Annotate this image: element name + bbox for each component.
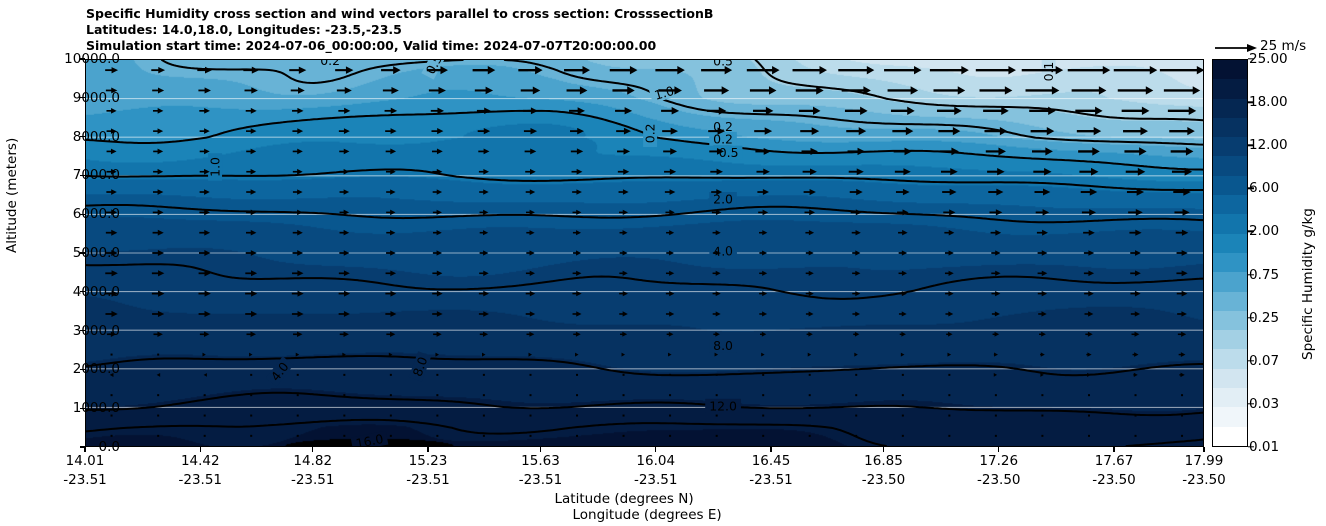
wind-vector [896,189,910,195]
wind-vector [524,128,537,134]
wind-vector [803,168,817,175]
colorbar-band [1213,79,1247,98]
wind-vector [902,374,904,376]
wind-vector [1041,415,1043,417]
wind-vector [901,353,905,357]
wind-vector [1086,352,1091,356]
wind-vector [713,271,721,276]
wind-vector [899,250,907,255]
wind-vector [668,353,671,357]
wind-vector [940,148,959,156]
wind-vector [806,271,814,276]
wind-vector [386,230,395,235]
wind-vector [390,394,392,396]
wind-vector [995,394,997,396]
colorbar-tick-mark [1248,145,1254,146]
wind-vector [612,86,634,94]
colorbar-tick-mark [1248,58,1254,59]
wind-vector [204,373,207,377]
wind-vector [483,394,485,396]
wind-vector [572,189,582,194]
wind-vector [664,169,676,175]
wind-vector [892,127,913,135]
wind-vector [759,311,767,316]
wind-vector [151,67,165,73]
wind-vector [1038,311,1046,316]
wind-vector [479,169,489,175]
wind-vector [1035,189,1051,196]
wind-vector [976,66,1016,74]
x-tick-label-latitude: 15.63 [519,452,563,471]
wind-vector [750,86,777,94]
wind-vector [199,230,210,236]
wind-vector [1038,271,1048,276]
wind-vector [200,128,210,134]
contour-label: 0.2 [317,60,344,68]
x-tick-label-latitude: 16.85 [862,452,906,471]
wind-vector [526,250,534,255]
wind-vector [622,353,625,357]
wind-vector [986,147,1006,155]
y-tick-mark [80,291,85,292]
wind-vector [107,149,117,155]
wind-vector [619,271,627,276]
y-tick-label: 10000.0 [64,51,120,67]
colorbar-band [1213,349,1247,368]
colorbar-band [1213,99,1247,118]
wind-vector [153,128,163,134]
contour-label: 0.1 [1041,60,1056,85]
wind-vector [994,373,997,377]
wind-vector [293,169,303,175]
wind-vector [756,169,769,175]
wind-vector [1181,415,1183,417]
wind-vector [1084,271,1094,277]
wind-vector [1041,394,1043,396]
wind-vector [715,353,718,357]
wind-vector [246,250,257,256]
wind-vector [854,353,857,357]
wind-vector [1130,270,1141,276]
wind-vector [390,435,392,437]
wind-vector [754,127,772,134]
svg-text:0.5: 0.5 [719,145,739,160]
y-axis-label: Altitude (meters) [4,138,20,253]
y-tick-mark [80,408,85,409]
wind-vector [993,332,1000,337]
x-tick-label-latitude: 14.42 [179,452,223,471]
wind-vector [1085,332,1092,337]
wind-vector [669,374,671,376]
wind-vector [1135,394,1137,396]
x-tick-label-longitude: -23.50 [977,471,1021,490]
wind-vector [480,230,488,235]
wind-vector [1040,352,1045,356]
wind-vector [523,107,538,114]
colorbar-band [1213,137,1247,156]
wind-vector [616,128,631,135]
x-tick-label-group: 17.26-23.50 [977,452,1021,490]
svg-text:0.2: 0.2 [320,60,340,68]
wind-vector [246,149,256,155]
wind-vector [666,311,674,316]
wind-vector [1169,127,1195,135]
wind-vector [339,270,350,276]
wind-vector [713,332,719,337]
wind-vector [343,435,345,437]
wind-vector [247,331,256,336]
wind-vector [793,66,827,74]
wind-vector [1160,66,1203,74]
wind-vector [808,353,811,357]
wind-vector [762,374,764,376]
wind-vector [991,250,1000,255]
wind-vector [475,87,493,95]
wind-vector [106,230,117,236]
wind-vector [663,148,677,155]
wind-vector [1068,66,1111,74]
x-tick-label-group: 14.82-23.51 [291,452,335,490]
wind-vector [106,108,116,114]
wind-vector [246,128,256,134]
wind-vector [296,353,299,357]
wind-vector [429,87,446,94]
wind-vector [980,86,1013,94]
contour-label: 8.0 [710,338,737,353]
wind-vector [576,435,578,437]
wind-vector [933,86,965,94]
cross-section-plot: 0.20.50.51.01.00.10.20.20.20.52.04.04.08… [85,59,1204,447]
wind-vector [1131,311,1140,316]
wind-vector [480,332,488,337]
colorbar-band [1213,118,1247,137]
wind-vector [855,435,857,437]
wind-vector-key: 25 m/s [1213,38,1323,58]
wind-vector [293,332,302,337]
wind-vector [894,148,912,156]
wind-vector [576,394,578,396]
wind-vector [432,149,443,155]
wind-vector [948,435,950,437]
wind-vector [343,374,345,376]
contour-label: 0.5 [710,60,737,68]
wind-vector [1124,147,1146,155]
wind-vector [576,415,578,417]
wind-vector [483,374,485,376]
wind-vector [946,332,952,337]
x-tick-label-longitude: -23.50 [1182,471,1226,490]
wind-vector [243,67,259,74]
wind-vector [200,189,210,195]
wind-vector [1084,250,1094,256]
colorbar-tick-label: 18.00 [1249,94,1288,110]
wind-vector [848,148,865,155]
wind-vector [716,374,718,376]
wind-vector [473,66,496,74]
wind-vector [530,394,532,396]
colorbar-band [1213,292,1247,311]
x-tick-label-longitude: -23.51 [291,471,335,490]
x-tick-label-group: 16.85-23.50 [862,452,906,490]
wind-vector [899,271,907,276]
chart-title: Specific Humidity cross section and wind… [86,6,713,54]
wind-vector [1081,188,1098,195]
wind-vector [529,353,532,357]
wind-vector [623,394,625,396]
wind-vector [666,251,674,256]
wind-vector [992,311,1000,316]
wind-vector [530,415,532,417]
wind-vector [948,374,950,376]
wind-vector [111,354,113,356]
wind-vector [153,149,163,155]
wind-vector [704,86,729,94]
wind-vector [667,332,674,337]
x-tick-label-group: 15.63-23.51 [519,452,563,490]
wind-vector [665,189,675,195]
svg-text:0.5: 0.5 [713,60,733,68]
wind-vector [339,311,350,317]
wind-vector [479,311,489,317]
wind-vector [1122,107,1150,115]
wind-vector [386,271,396,277]
colorbar-band [1213,234,1247,253]
wind-vector [757,189,769,195]
wind-vector [433,332,442,337]
wind-vector [845,107,868,115]
wind-vector [662,128,678,135]
wind-vector [930,66,969,74]
wind-vector [339,128,350,134]
wind-vector [760,332,766,337]
wind-vector [1114,66,1158,74]
wind-vector [1038,250,1048,256]
wind-vector [900,332,906,337]
wind-vector [898,230,908,235]
wind-vector [571,148,583,154]
wind-vector [850,189,863,195]
wind-vector [152,311,164,317]
wind-vector [945,311,953,316]
svg-text:8.0: 8.0 [713,338,733,353]
wind-vector [297,374,299,376]
wind-vector [250,415,252,417]
wind-vector [1135,435,1137,437]
wind-vector [1178,332,1186,337]
wind-vector [105,270,118,276]
wind-vector [153,189,163,195]
x-tick-label-group: 16.45-23.51 [749,452,793,490]
wind-vector [390,415,392,417]
x-tick-label-latitude: 17.26 [977,452,1021,471]
wind-vector [620,230,628,235]
wind-vector [804,189,816,195]
wind-vector [386,149,396,155]
wind-vector [105,311,117,317]
wind-vector [573,230,581,235]
wind-vector [1039,332,1046,337]
wind-vector [902,435,904,437]
wind-vector [530,435,532,437]
wind-vector [250,374,252,376]
wind-vector [948,415,950,417]
wind-vector [809,394,811,396]
wind-vector [759,230,767,235]
svg-text:12.0: 12.0 [709,398,737,413]
wind-vector [339,169,349,175]
colorbar-band [1213,60,1247,79]
wind-vector [479,271,488,276]
wind-vector [1130,250,1141,256]
wind-vector [713,311,721,316]
colorbar-band [1213,311,1247,330]
wind-vector [620,251,628,256]
wind-vector [716,415,718,417]
wind-vector [433,250,442,255]
wind-vector [199,108,210,114]
wind-vector [250,394,252,396]
wind-vector [200,331,209,336]
wind-vector [204,435,206,437]
wind-vector [855,394,857,396]
colorbar-band [1213,369,1247,388]
wind-vector [669,435,671,437]
wind-vector [1077,127,1101,135]
wind-vector [669,415,671,417]
wind-vector [480,250,489,255]
wind-vector [246,230,256,236]
wind-vector [339,149,349,155]
x-tick-label-latitude: 15.23 [406,452,450,471]
wind-vector [800,127,819,135]
wind-vector [526,230,534,235]
wind-vector [618,169,629,175]
wind-vector [937,107,962,115]
wind-vector [846,127,866,135]
wind-vector [479,189,488,194]
wind-vector [567,86,588,94]
wind-vector [1088,435,1090,437]
wind-vector [521,87,541,95]
wind-vector [199,311,211,317]
title-line-1: Specific Humidity cross section and wind… [86,6,713,22]
x-tick-label-latitude: 17.99 [1182,452,1226,471]
wind-vector [293,149,303,155]
wind-vector [436,374,438,376]
wind-vector [1179,373,1184,377]
wind-vector [482,353,485,357]
wind-vector [661,107,679,114]
y-tick-mark [80,214,85,215]
wind-vector [292,311,304,317]
y-tick-mark [80,136,85,137]
wind-vector [564,66,590,74]
colorbar-tick-mark [1248,360,1254,361]
wind-vector [436,394,438,396]
wind-vector [338,108,350,114]
svg-text:1.0: 1.0 [653,83,676,103]
y-tick-mark [80,97,85,98]
colorbar-band [1213,253,1247,272]
wind-vector [390,374,392,376]
wind-vector [991,230,1002,236]
wind-vector [884,66,921,74]
contour-label: 1.0 [208,154,223,181]
contour-label: 2.0 [710,191,737,206]
wind-vector [291,87,305,94]
wind-vector [152,87,164,93]
x-tick-label-latitude: 16.04 [634,452,678,471]
wind-vector [483,435,485,437]
wind-vector [716,394,718,396]
wind-vector [246,169,256,175]
wind-vector [623,415,625,417]
colorbar-band [1213,407,1247,426]
svg-text:16.0: 16.0 [354,431,384,446]
wind-vector [152,270,164,276]
wind-vector [995,435,997,437]
wind-vector [433,230,442,235]
wind-vector [1181,394,1183,396]
colorbar-band [1213,272,1247,291]
wind-vector [619,189,629,195]
x-axis-label-longitude: Longitude (degrees E) [573,507,722,523]
wind-vector [902,415,904,417]
y-tick-mark [80,369,85,370]
wind-vector [246,108,257,114]
wind-vector [570,128,584,135]
wind-vector [153,169,163,175]
wind-vector [337,87,352,94]
x-tick-label-latitude: 14.01 [63,452,107,471]
y-tick-mark [80,58,85,59]
title-line-3: Simulation start time: 2024-07-06_00:00:… [86,38,713,54]
wind-vector [1031,127,1055,135]
arrow-right-icon [1213,38,1259,58]
wind-vector [947,353,951,357]
wind-vector [383,87,399,94]
x-tick-label-group: 17.67-23.50 [1092,452,1136,490]
colorbar-label: Specific Humidity g/kg [1300,208,1316,360]
wind-vector [1176,230,1189,236]
wind-vector [762,415,764,417]
wind-vector [710,169,723,175]
wind-vector [948,394,950,396]
wind-vector [293,250,303,256]
wind-vector [250,435,252,437]
wind-vector [573,271,582,276]
colorbar-tick-label: 12.00 [1249,137,1288,153]
wind-vector [1179,352,1186,357]
wind-vector [707,107,726,115]
wind-vector [1079,168,1098,176]
wind-vector [1032,147,1053,155]
wind-vector [525,169,535,175]
x-tick-label-latitude: 16.45 [749,452,793,471]
wind-vector [157,394,159,396]
wind-vector [1177,311,1187,316]
wind-vector [199,250,210,256]
wind-vector [153,332,162,337]
colorbar-band [1213,427,1247,446]
wind-vector [289,67,306,74]
wind-vector [623,435,625,437]
wind-vector [339,250,349,256]
svg-text:0.2: 0.2 [713,131,733,146]
wind-vector [1088,415,1090,417]
wind-vector [809,374,811,376]
colorbar-tick-mark [1248,446,1254,447]
